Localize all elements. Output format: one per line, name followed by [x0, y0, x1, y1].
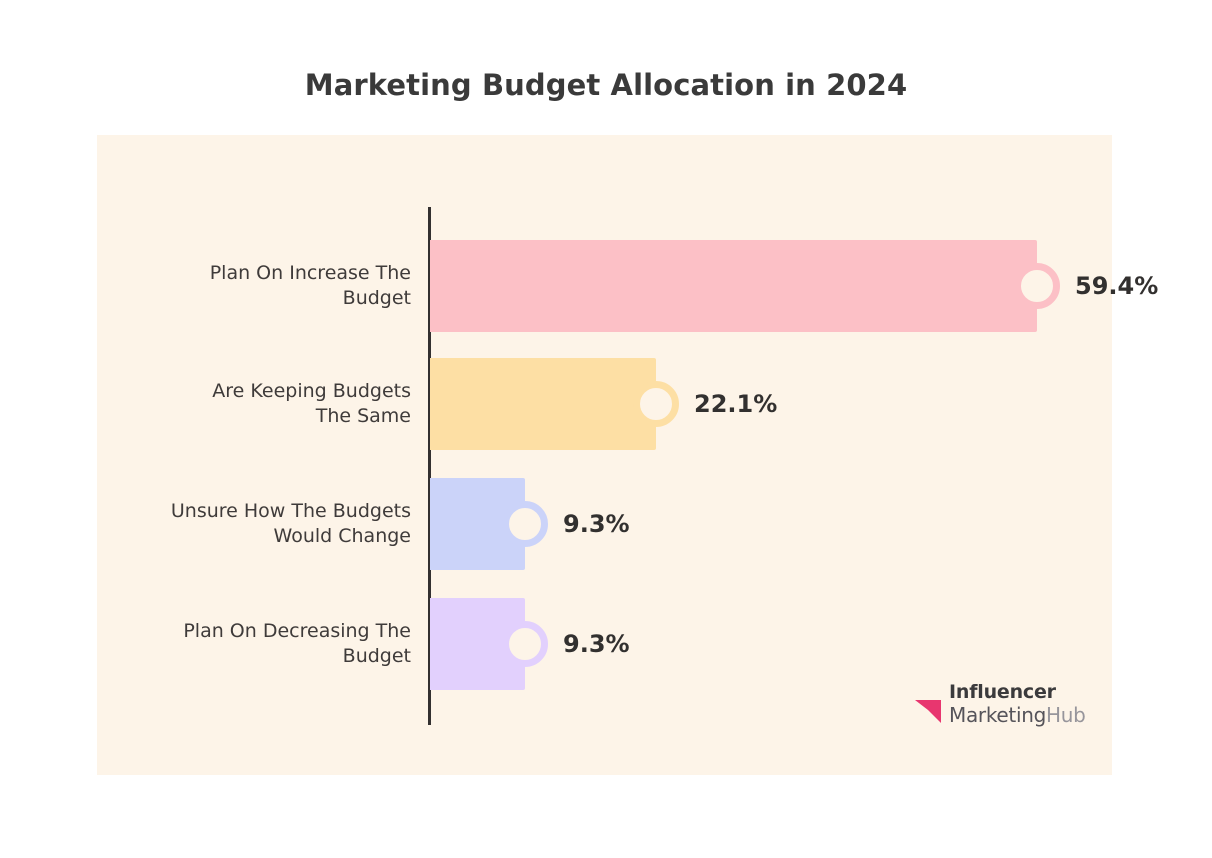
bar-end-marker-icon [502, 501, 548, 547]
brand-name-marketing: Marketing [949, 703, 1046, 727]
bar-track: 59.4% [430, 240, 1212, 332]
bar-category-label-line1: Plan On Increase The [210, 261, 411, 286]
bar-row: Plan On Increase The Budget 59.4% [97, 240, 1112, 332]
brand-logo: Influencer MarketingHub [915, 681, 1095, 733]
bar-row: Unsure How The Budgets Would Change 9.3% [97, 478, 1112, 570]
bar-category-label-line2: The Same [316, 404, 411, 429]
bar-value-label: 59.4% [1075, 271, 1158, 301]
bar-row: Are Keeping Budgets The Same 22.1% [97, 358, 1112, 450]
bar-category-label-line2: Budget [343, 286, 411, 311]
bar-category-label: Plan On Increase The Budget [111, 240, 411, 332]
bar-category-label-line1: Plan On Decreasing The [183, 619, 411, 644]
brand-logo-text: Influencer MarketingHub [949, 681, 1086, 727]
bar-value-label: 9.3% [563, 629, 630, 659]
bar-value-label: 9.3% [563, 509, 630, 539]
bar-category-label: Unsure How The Budgets Would Change [111, 478, 411, 570]
bar-fill[interactable] [430, 240, 1037, 332]
bar-category-label-line2: Budget [343, 644, 411, 669]
brand-name-secondary: MarketingHub [949, 703, 1086, 727]
bar-end-marker-icon [633, 381, 679, 427]
influencer-marketing-hub-arrow-icon [915, 687, 949, 723]
chart-container: Marketing Budget Allocation in 2024 Plan… [0, 0, 1212, 858]
chart-plot-panel: Plan On Increase The Budget 59.4% Are Ke… [97, 135, 1112, 775]
bar-category-label: Are Keeping Budgets The Same [111, 358, 411, 450]
brand-name-primary: Influencer [949, 681, 1086, 703]
bar-track: 9.3% [430, 478, 825, 570]
bar-category-label: Plan On Decreasing The Budget [111, 598, 411, 690]
bar-value-label: 22.1% [694, 389, 777, 419]
bar-fill[interactable] [430, 358, 656, 450]
bar-category-label-line1: Are Keeping Budgets [212, 379, 411, 404]
brand-name-hub: Hub [1046, 703, 1086, 727]
bar-category-label-line1: Unsure How The Budgets [171, 499, 411, 524]
bar-track: 9.3% [430, 598, 825, 690]
bar-row: Plan On Decreasing The Budget 9.3% [97, 598, 1112, 690]
page-title: Marketing Budget Allocation in 2024 [0, 68, 1212, 102]
bar-track: 22.1% [430, 358, 956, 450]
bar-end-marker-icon [502, 621, 548, 667]
bar-end-marker-icon [1014, 263, 1060, 309]
bar-category-label-line2: Would Change [274, 524, 411, 549]
